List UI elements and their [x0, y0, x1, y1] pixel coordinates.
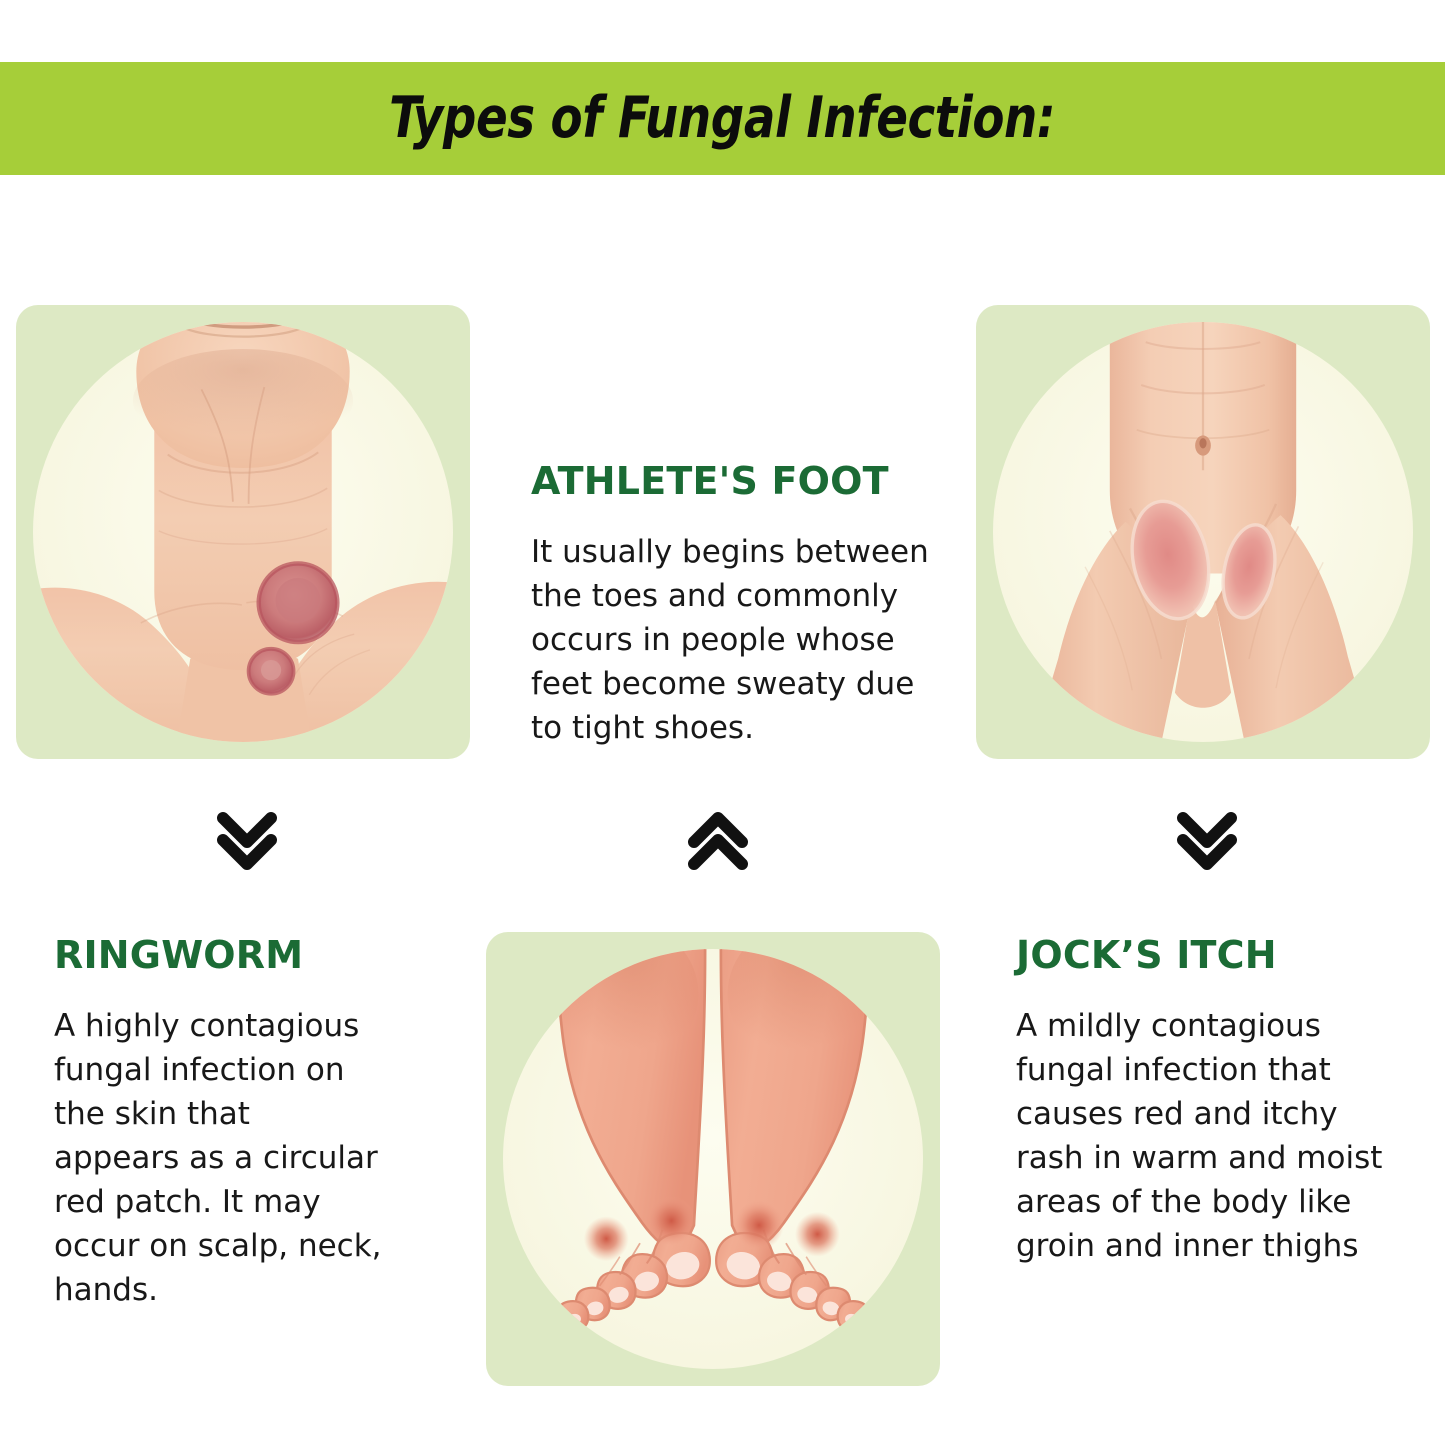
section-body-athletes-foot: It usually begins between the toes and c…	[531, 530, 931, 750]
double-chevron-down-glyph	[207, 800, 287, 880]
double-chevron-down-glyph	[1167, 800, 1247, 880]
lesion-large	[259, 563, 338, 642]
double-chevron-up-glyph	[678, 800, 758, 880]
inflamed-spot	[734, 1201, 783, 1250]
feet-illustration-svg	[503, 949, 923, 1369]
right-foot	[716, 949, 871, 1330]
section-jocks-itch: JOCK’S ITCH A mildly contagious fungal i…	[1016, 936, 1396, 1268]
section-ringworm: RINGWORM A highly contagious fungal infe…	[54, 936, 384, 1312]
neck-illustration-svg	[33, 322, 453, 742]
inflamed-spot	[647, 1196, 696, 1245]
groin-illustration-svg	[993, 322, 1413, 742]
section-title-jocks-itch: JOCK’S ITCH	[1016, 936, 1396, 974]
section-title-athletes-foot: ATHLETE'S FOOT	[531, 462, 931, 500]
illustration-neck-ringworm	[33, 322, 453, 742]
double-chevron-down-icon	[1167, 800, 1247, 880]
section-body-jocks-itch: A mildly contagious fungal infection tha…	[1016, 1004, 1396, 1268]
header-banner: Types of Fungal Infection:	[0, 62, 1445, 175]
page-title: Types of Fungal Infection:	[389, 90, 1055, 147]
section-title-ringworm: RINGWORM	[54, 936, 384, 974]
image-card-athletes-foot	[486, 932, 940, 1386]
illustration-groin-rash	[993, 322, 1413, 742]
image-card-jocks-itch	[976, 305, 1430, 759]
double-chevron-up-icon	[678, 800, 758, 880]
left-foot	[555, 949, 710, 1330]
inflamed-spot	[795, 1212, 840, 1257]
double-chevron-down-icon	[207, 800, 287, 880]
lesion-small	[249, 649, 294, 694]
section-athletes-foot: ATHLETE'S FOOT It usually begins between…	[531, 462, 931, 750]
inflamed-spot	[584, 1216, 629, 1261]
illustration-feet-athletes-foot	[503, 949, 923, 1369]
section-body-ringworm: A highly contagious fungal infection on …	[54, 1004, 384, 1312]
image-card-ringworm	[16, 305, 470, 759]
